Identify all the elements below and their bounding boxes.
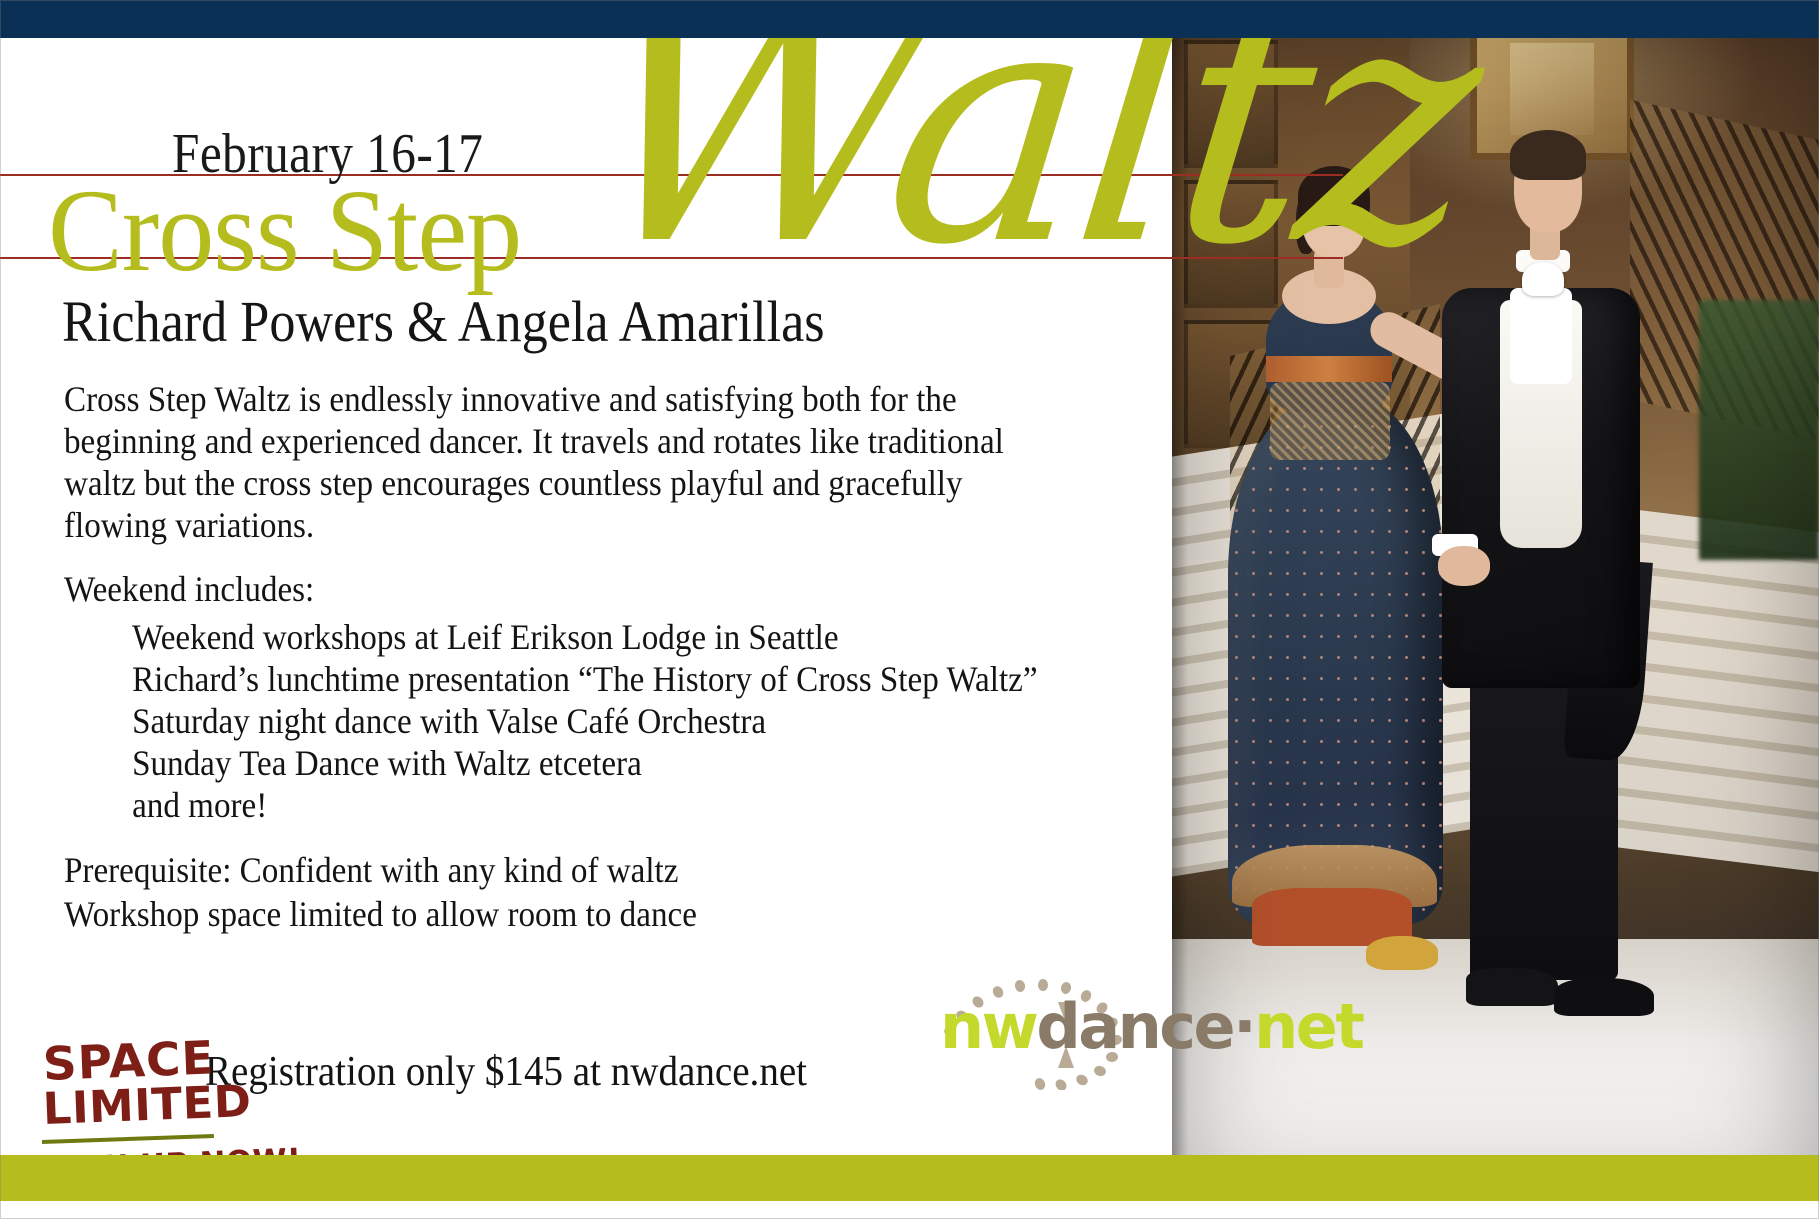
list-item: Richard’s lunchtime presentation “The Hi… (64, 658, 1181, 700)
logo-dance: dance (1036, 990, 1233, 1063)
list-item: and more! (64, 784, 1181, 826)
title-script-waltz: Waltz (573, 0, 1487, 290)
prerequisite-block: Prerequisite: Confident with any kind of… (64, 848, 1074, 936)
list-item: Sunday Tea Dance with Waltz etcetera (64, 742, 1181, 784)
logo-nw: nw (940, 990, 1036, 1063)
top-navy-band (0, 0, 1819, 38)
badge-divider (42, 1134, 214, 1144)
registration-line: Registration only $145 at nwdance.net (205, 1048, 807, 1096)
intro-paragraph: Cross Step Waltz is endlessly innovative… (64, 378, 1067, 546)
nwdance-logo[interactable]: nwdance·net (940, 940, 1180, 1090)
logo-wordmark: nwdance·net (940, 996, 1362, 1058)
logo-net: net (1254, 990, 1362, 1063)
bottom-olive-band (0, 1155, 1819, 1201)
includes-list: Weekend workshops at Leif Erikson Lodge … (64, 616, 1074, 826)
prerequisite-line: Prerequisite: Confident with any kind of… (64, 848, 993, 892)
bottom-white-margin (0, 1201, 1819, 1219)
logo-dot: · (1233, 990, 1254, 1063)
badge-line-limited: LIMITED (42, 1081, 227, 1132)
instructor-names: Richard Powers & Angela Amarillas (62, 288, 825, 355)
includes-heading: Weekend includes: (64, 568, 1067, 610)
list-item: Weekend workshops at Leif Erikson Lodge … (64, 616, 1181, 658)
flyer-poster: Waltz February 16-17 Cross Step Richard … (0, 0, 1819, 1219)
page-title: Cross Step (48, 163, 521, 299)
body-copy: Cross Step Waltz is endlessly innovative… (64, 378, 1074, 936)
space-limited-note: Workshop space limited to allow room to … (64, 892, 993, 936)
list-item: Saturday night dance with Valse Café Orc… (64, 700, 1181, 742)
